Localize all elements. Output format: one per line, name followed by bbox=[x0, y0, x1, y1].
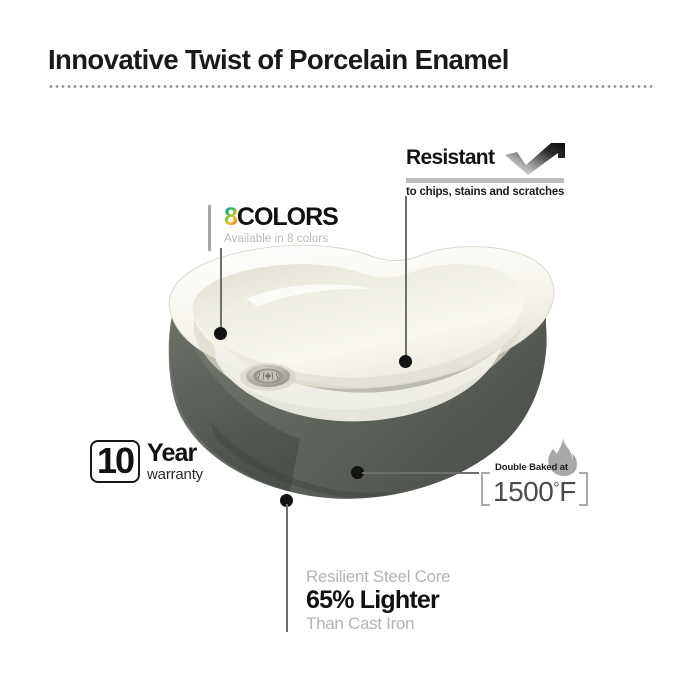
callout-temperature: Double Baked at 1500°F bbox=[481, 440, 603, 506]
temperature-number: 1500 bbox=[493, 476, 553, 507]
colors-count: 8 bbox=[224, 203, 237, 231]
colors-heading: 8COLORS bbox=[224, 205, 338, 230]
warranty-years-badge: 10 bbox=[90, 440, 140, 483]
colors-accent-bar bbox=[208, 205, 211, 251]
colors-subtitle: Available in 8 colors bbox=[224, 233, 338, 245]
resistant-heading: Resistant bbox=[406, 146, 494, 170]
steel-core-line2: 65% Lighter bbox=[306, 587, 450, 614]
warranty-year-label: Year bbox=[147, 441, 203, 466]
resistant-subtitle: to chips, stains and scratches bbox=[406, 186, 566, 198]
check-arrow-icon bbox=[504, 142, 566, 176]
callout-colors: 8COLORS Available in 8 colors bbox=[208, 205, 338, 251]
callout-steel-core: Resilient Steel Core 65% Lighter Than Ca… bbox=[306, 568, 450, 633]
page-title: Innovative Twist of Porcelain Enamel bbox=[48, 44, 648, 76]
callout-dot-colors bbox=[214, 327, 227, 340]
callout-resistant: Resistant to chips, stains and scratches bbox=[406, 146, 566, 198]
bracket-right-icon bbox=[579, 472, 588, 506]
warranty-word-label: warranty bbox=[147, 467, 203, 482]
temperature-unit: F bbox=[559, 476, 576, 507]
temperature-value-row: 1500°F bbox=[481, 472, 588, 506]
steel-core-line3: Than Cast Iron bbox=[306, 615, 450, 633]
leader-line-colors bbox=[220, 248, 222, 334]
resistant-rule bbox=[406, 178, 564, 183]
steel-core-line1: Resilient Steel Core bbox=[306, 568, 450, 586]
header-dotted-divider bbox=[48, 85, 653, 88]
infographic-page: Innovative Twist of Porcelain Enamel bbox=[0, 0, 700, 700]
callout-warranty: 10 Year warranty bbox=[90, 440, 203, 483]
callout-dot-resistant bbox=[399, 355, 412, 368]
colors-heading-text: COLORS bbox=[237, 203, 338, 231]
bracket-left-icon bbox=[481, 472, 490, 506]
leader-line-resistant bbox=[405, 196, 407, 362]
leader-line-temperature bbox=[362, 472, 479, 474]
temperature-value: 1500°F bbox=[490, 472, 579, 506]
leader-line-steelcore bbox=[286, 504, 288, 632]
